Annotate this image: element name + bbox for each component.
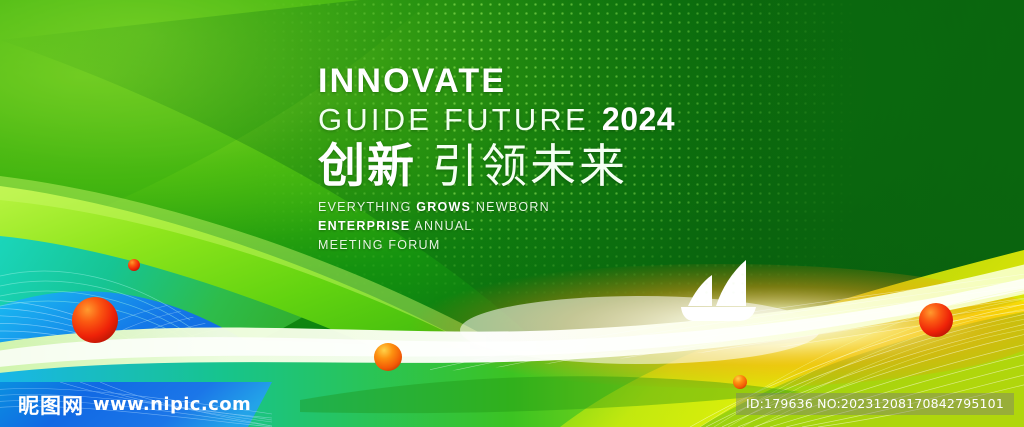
- subtitle-everything: EVERYTHING: [318, 200, 416, 214]
- headline-chinese-bold: 创新: [318, 142, 416, 189]
- headline-chinese-light: 引领未来: [432, 143, 628, 189]
- subtitle-annual: ANNUAL: [410, 219, 472, 233]
- watermark: 昵图网 www.nipic.com: [0, 382, 272, 427]
- subtitle-enterprise: ENTERPRISE: [318, 219, 410, 233]
- watermark-brand-cn: 昵图网: [18, 390, 84, 420]
- poster-canvas: INNOVATE GUIDE FUTURE 2024 创新 引领未来 EVERY…: [0, 0, 1024, 427]
- headline-innovate: INNOVATE: [318, 64, 675, 98]
- subtitle-line-1: EVERYTHING GROWS NEWBORN: [318, 198, 675, 217]
- headline-guide-future-row: GUIDE FUTURE 2024: [318, 103, 675, 135]
- subtitle-line-3: MEETING FORUM: [318, 236, 675, 255]
- image-id-strip: ID:179636 NO:20231208170842795101: [736, 393, 1014, 415]
- headline-year: 2024: [602, 103, 675, 135]
- subtitle-grows: GROWS: [416, 200, 471, 214]
- subtitle-block: EVERYTHING GROWS NEWBORN ENTERPRISE ANNU…: [318, 198, 675, 255]
- headline-chinese-row: 创新 引领未来: [318, 142, 675, 189]
- subtitle-newborn: NEWBORN: [471, 200, 550, 214]
- subtitle-line-2: ENTERPRISE ANNUAL: [318, 217, 675, 236]
- headline-guide-future: GUIDE FUTURE: [318, 104, 589, 135]
- watermark-url: www.nipic.com: [93, 394, 251, 415]
- headline-block: INNOVATE GUIDE FUTURE 2024 创新 引领未来 EVERY…: [318, 64, 675, 255]
